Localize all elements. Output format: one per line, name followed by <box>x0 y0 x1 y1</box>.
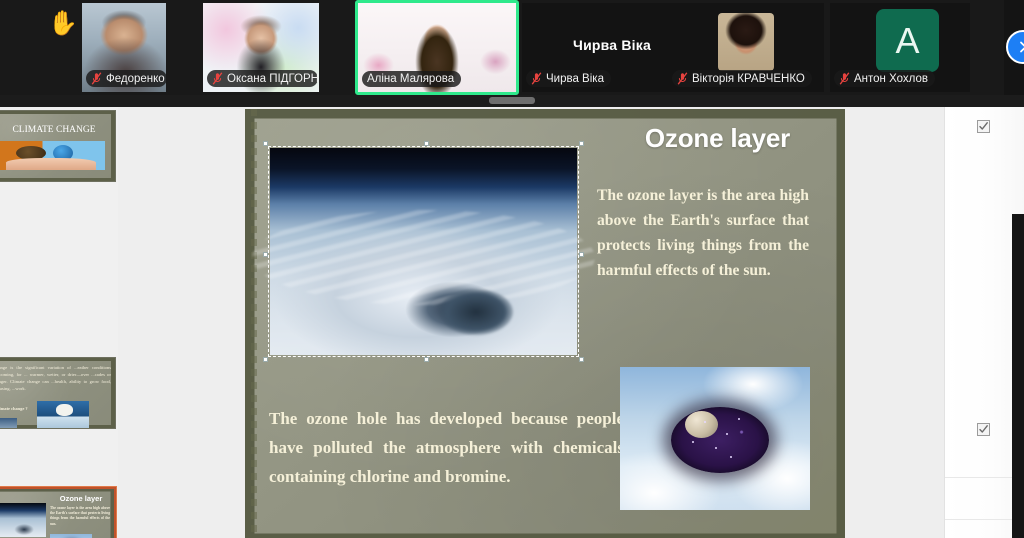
thumbnail-image <box>0 418 17 429</box>
thumbnail-image-ozone <box>50 534 92 538</box>
participant-name: Вікторія КРАВЧЕНКО <box>692 73 805 85</box>
participant-name: Аліна Малярова <box>367 73 454 85</box>
participant-name: Антон Хохлов <box>854 73 928 85</box>
participant-name: Чирва Віка <box>546 73 604 85</box>
slide-paragraph-1[interactable]: The ozone layer is the area high above t… <box>597 183 809 283</box>
slide-thumbnail[interactable]: CLIMATE CHANGE <box>0 110 116 182</box>
participant-name: Федоренко Володимир <box>106 73 166 85</box>
video-participant-strip: ✋ Федоренко Володимир <box>0 0 1024 95</box>
participant-name: Оксана ПІДГОРНА <box>227 73 319 85</box>
microphone-off-icon <box>677 72 688 85</box>
slide-thumbnail-rail[interactable]: CLIMATE CHANGE ...ange is the significan… <box>0 107 118 538</box>
raised-hand-icon: ✋ <box>48 12 78 36</box>
slide-thumbnail[interactable]: ...ange is the significant variation of … <box>0 357 116 429</box>
avatar: A <box>876 9 939 72</box>
thumbnail-subhead: ...limate change ? <box>0 406 28 411</box>
presentation-editor: CLIMATE CHANGE ...ange is the significan… <box>0 107 1024 538</box>
thumbnail-title: CLIMATE CHANGE <box>0 125 113 135</box>
ozone-hole <box>671 407 769 473</box>
microphone-off-icon <box>531 72 542 85</box>
slide-title[interactable]: Ozone layer <box>610 123 825 154</box>
horizontal-scrollbar-thumb[interactable] <box>489 97 535 104</box>
participant-tile[interactable]: A Антон Хохлов <box>830 3 970 92</box>
checkbox-checked-icon[interactable] <box>977 120 990 133</box>
thumbnail-title: Ozone layer <box>50 494 112 503</box>
participant-name-chip: Оксана ПІДГОРНА <box>207 70 318 87</box>
microphone-off-icon <box>839 72 850 85</box>
cloud-bands <box>252 210 596 305</box>
participant-tile[interactable]: Федоренко Володимир <box>82 3 166 92</box>
participant-tile[interactable]: Оксана ПІДГОРНА <box>203 3 319 92</box>
moon <box>685 411 718 438</box>
thumbnail-paragraph-1: The ozone layer is the area high above t… <box>50 506 110 527</box>
screen: ✋ Федоренко Володимир <box>0 0 1024 538</box>
slide-paragraph-2[interactable]: The ozone hole has developed because peo… <box>269 404 624 491</box>
hurricane-from-space-image[interactable] <box>270 148 577 355</box>
current-slide[interactable]: Ozone layer The ozone layer is the area … <box>245 109 845 538</box>
thumbnail-image <box>37 401 89 429</box>
chevron-right-icon <box>1016 40 1024 54</box>
window-right-edge <box>1012 214 1024 538</box>
participant-name-chip: Федоренко Володимир <box>86 70 166 87</box>
participant-tile[interactable]: Вікторія КРАВЧЕНКО <box>668 3 824 92</box>
avatar-initial: A <box>895 20 919 62</box>
slide-canvas: Ozone layer The ozone layer is the area … <box>118 107 944 538</box>
participant-name-chip: Вікторія КРАВЧЕНКО <box>672 70 812 87</box>
thumbnail-image <box>0 141 105 170</box>
thumbnail-image-hurricane <box>0 503 46 537</box>
checkbox-checked-icon[interactable] <box>977 423 990 436</box>
ozone-hole-in-clouds-image[interactable] <box>620 367 810 510</box>
storm-eye <box>439 289 513 335</box>
participant-name-chip: Чирва Віка <box>526 70 611 87</box>
microphone-off-icon <box>91 72 102 85</box>
participant-name-chip: Аліна Малярова <box>362 71 461 87</box>
participant-photo-inner <box>718 13 774 71</box>
participant-tile-active-speaker[interactable]: Аліна Малярова <box>355 0 519 95</box>
slide-thumbnail-selected[interactable]: Ozone layer The ozone layer is the area … <box>0 487 116 538</box>
participant-name-chip: Антон Хохлов <box>834 70 935 87</box>
microphone-off-icon <box>212 72 223 85</box>
thumbnail-body-text: ...ange is the significant variation of … <box>0 364 111 392</box>
